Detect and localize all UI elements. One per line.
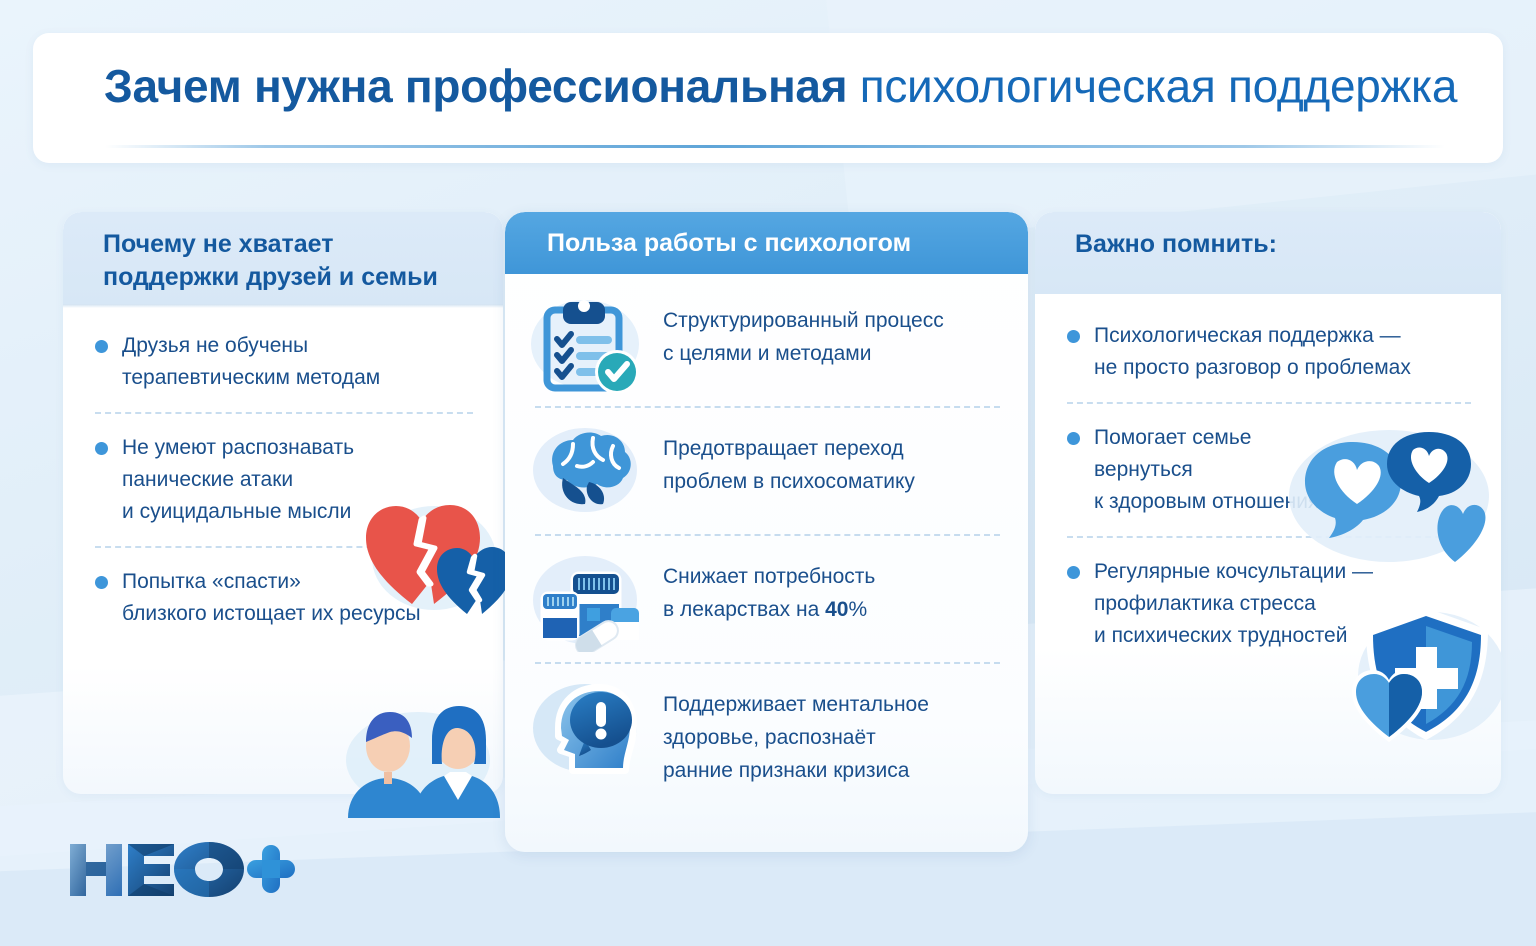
list-item-text: Снижает потребность в лекарствах на 40%: [663, 548, 875, 626]
list-item-text: Попытка «спасти» близкого истощает их ре…: [122, 566, 421, 630]
clipboard-checklist-icon: [529, 292, 647, 396]
column-benefits-of-psychologist: Польза работы с психологом: [505, 212, 1028, 852]
list-item-line: к здоровым отношениям: [1094, 486, 1334, 518]
title-underline: [105, 145, 1445, 148]
list-item-text: Друзья не обучены терапевтическим метода…: [122, 330, 380, 394]
list-item: Не умеют распознавать панические атаки и…: [93, 432, 477, 528]
head-alert-icon: [529, 676, 647, 780]
list-item-line: панические атаки: [122, 464, 354, 496]
list-item: Снижает потребность в лекарствах на 40%: [529, 548, 1006, 652]
bullet-dot-icon: [95, 442, 108, 455]
list-item-line: Структурированный процесс: [663, 304, 944, 337]
list-separator: [1067, 536, 1471, 538]
list-item-line: не просто разговор о проблемах: [1094, 352, 1411, 384]
bullet-dot-icon: [1067, 566, 1080, 579]
medication-percent-value: 40: [825, 598, 848, 621]
page-title: Зачем нужна профессиональная психологиче…: [104, 59, 1457, 113]
right-column-header: Важно помнить:: [1035, 212, 1501, 294]
list-item: Структурированный процесс с целями и мет…: [529, 292, 1006, 396]
bullet-dot-icon: [1067, 432, 1080, 445]
list-item-text: Регулярные кочсультации — профилактика с…: [1094, 556, 1373, 652]
medication-percent-sign: %: [848, 598, 867, 621]
left-header-line2: поддержки друзей и семьи: [103, 261, 503, 294]
list-separator: [535, 406, 1000, 408]
list-item-line: здоровье, распознаёт: [663, 721, 929, 754]
infographic-canvas: Зачем нужна профессиональная психологиче…: [0, 0, 1536, 946]
list-item-text: Психологическая поддержка — не просто ра…: [1094, 320, 1411, 384]
list-item: Поддерживает ментальное здоровье, распоз…: [529, 676, 1006, 787]
list-separator: [535, 534, 1000, 536]
list-item-line: ранние признаки кризиса: [663, 754, 929, 787]
bullet-dot-icon: [95, 340, 108, 353]
left-bullet-list: Друзья не обучены терапевтическим метода…: [63, 304, 503, 630]
bullet-dot-icon: [95, 576, 108, 589]
list-item: Друзья не обучены терапевтическим метода…: [93, 330, 477, 394]
list-item-line: проблем в психосоматику: [663, 465, 915, 498]
list-item-line: терапевтическим методам: [122, 362, 380, 394]
list-item-line: и психических трудностей: [1094, 620, 1373, 652]
page-title-bold: Зачем нужна профессиональная: [104, 60, 860, 112]
list-item-line: Помогает семье: [1094, 422, 1334, 454]
list-item-text: Не умеют распознавать панические атаки и…: [122, 432, 354, 528]
list-item-line: Предотвращает переход: [663, 432, 915, 465]
column-why-friends-not-enough: Почему не хватает поддержки друзей и сем…: [63, 212, 503, 794]
list-item: Предотвращает переход проблем в психосом…: [529, 420, 1006, 524]
list-item-line: и суицидальные мысли: [122, 496, 354, 528]
left-header-line1: Почему не хватает: [103, 228, 503, 261]
brain-icon: [529, 420, 647, 524]
bullet-dot-icon: [1067, 330, 1080, 343]
column-important-to-remember: Важно помнить: Психологическая поддержка…: [1035, 212, 1501, 794]
list-item-line: в лекарствах на 40%: [663, 593, 875, 626]
list-item-text: Поддерживает ментальное здоровье, распоз…: [663, 676, 929, 787]
list-item-line: вернуться: [1094, 454, 1334, 486]
list-item-line: с целями и методами: [663, 337, 944, 370]
medication-bottles-icon: [529, 548, 647, 652]
list-item-line: близкого истощает их ресурсы: [122, 598, 421, 630]
neo-plus-logo: [66, 838, 296, 900]
list-separator: [95, 412, 473, 414]
list-item-line: Попытка «спасти»: [122, 566, 421, 598]
list-item-line: Друзья не обучены: [122, 330, 380, 362]
page-title-light: психологическая поддержка: [860, 60, 1457, 112]
list-item: Психологическая поддержка — не просто ра…: [1065, 320, 1475, 384]
right-bullet-list: Психологическая поддержка — не просто ра…: [1035, 294, 1501, 652]
list-item-line: Регулярные кочсультации —: [1094, 556, 1373, 588]
list-item: Регулярные кочсультации — профилактика с…: [1065, 556, 1475, 652]
list-separator: [95, 546, 473, 548]
list-item: Помогает семье вернуться к здоровым отно…: [1065, 422, 1475, 518]
list-item-line: Не умеют распознавать: [122, 432, 354, 464]
list-item-line: Психологическая поддержка —: [1094, 320, 1411, 352]
left-column-header: Почему не хватает поддержки друзей и сем…: [63, 212, 503, 304]
list-item: Попытка «спасти» близкого истощает их ре…: [93, 566, 477, 630]
list-item-text: Помогает семье вернуться к здоровым отно…: [1094, 422, 1334, 518]
list-item-line: Снижает потребность: [663, 560, 875, 593]
list-item-line: Поддерживает ментальное: [663, 688, 929, 721]
list-item-text: Структурированный процесс с целями и мет…: [663, 292, 944, 370]
list-separator: [1067, 402, 1471, 404]
list-separator: [535, 662, 1000, 664]
title-card: Зачем нужна профессиональная психологиче…: [33, 33, 1503, 163]
list-item-line: профилактика стресса: [1094, 588, 1373, 620]
middle-column-header: Польза работы с психологом: [505, 212, 1028, 274]
list-item-text: Предотвращает переход проблем в психосом…: [663, 420, 915, 498]
middle-feature-list: Структурированный процесс с целями и мет…: [505, 274, 1028, 787]
medication-text-prefix: в лекарствах на: [663, 598, 825, 621]
